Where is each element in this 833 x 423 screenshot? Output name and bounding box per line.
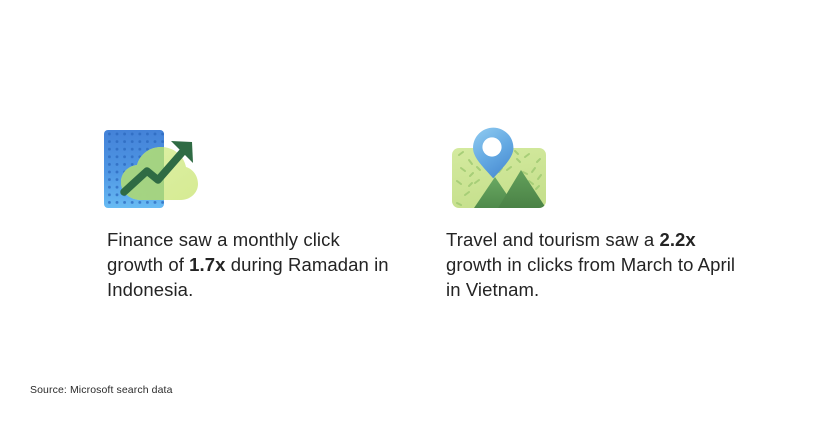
stat-text-finance: Finance saw a monthly click growth of 1.… [98,227,392,302]
travel-pin-hole [482,137,501,156]
stat-text-prefix-travel: Travel and tourism saw a [446,229,659,250]
stat-block-travel: Travel and tourism saw a 2.2x growth in … [445,115,745,302]
travel-icon-svg [445,115,560,215]
finance-icon-svg [98,115,213,215]
slide-canvas: Finance saw a monthly click growth of 1.… [0,0,833,423]
finance-growth-chart-icon [98,115,213,215]
stat-highlight-travel: 2.2x [659,229,695,250]
stat-text-travel: Travel and tourism saw a 2.2x growth in … [445,227,736,302]
stat-highlight-finance: 1.7x [189,254,225,275]
source-note: Source: Microsoft search data [30,383,173,397]
stat-block-finance: Finance saw a monthly click growth of 1.… [98,115,398,302]
travel-map-pin-icon [445,115,560,215]
stat-text-suffix-travel: growth in clicks from March to April in … [446,254,735,300]
